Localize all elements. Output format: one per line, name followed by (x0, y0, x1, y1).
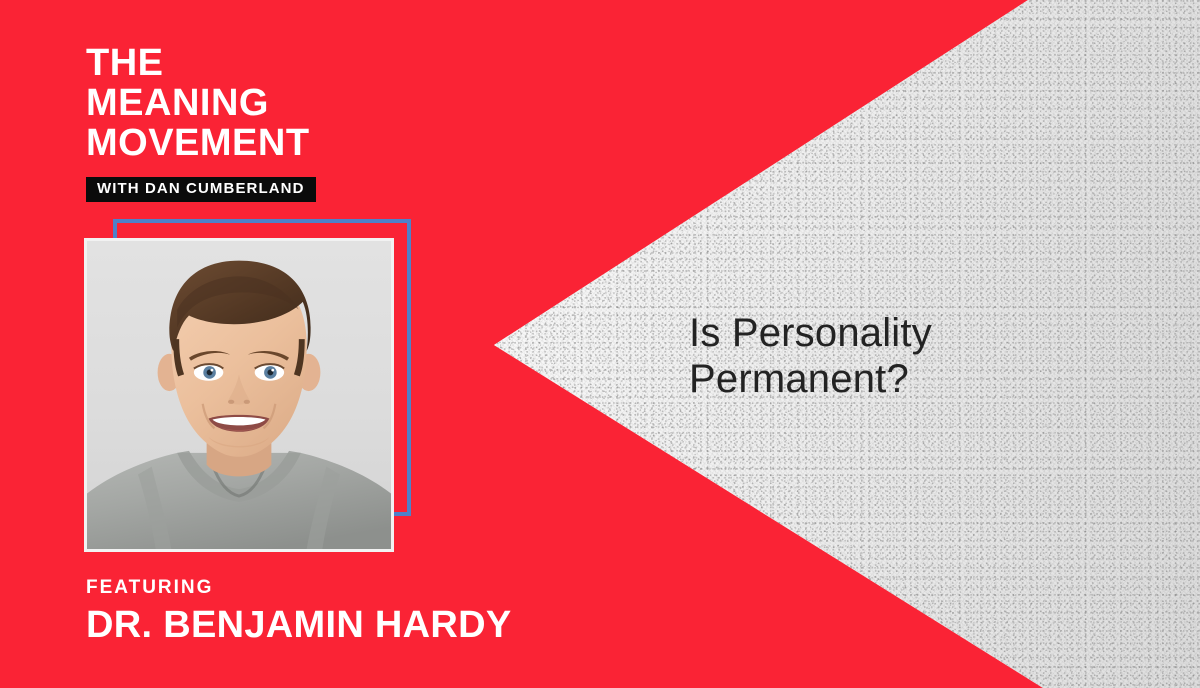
podcast-episode-cover: THE MEANING MOVEMENT WITH DAN CUMBERLAND (0, 0, 1200, 688)
brand-line-meaning: MEANING (86, 85, 506, 121)
episode-title: Is Personality Permanent? (689, 310, 1119, 402)
guest-headshot-illustration (87, 241, 391, 549)
brand-line-the: THE (86, 45, 506, 81)
brand-line-movement: MOVEMENT (86, 125, 506, 161)
featuring-label: FEATURING (86, 578, 512, 598)
featuring-block: FEATURING DR. BENJAMIN HARDY (86, 578, 512, 646)
guest-headshot (84, 238, 394, 552)
brand-lockup: THE MEANING MOVEMENT WITH DAN CUMBERLAND (86, 45, 506, 202)
host-badge: WITH DAN CUMBERLAND (86, 177, 316, 202)
guest-name: DR. BENJAMIN HARDY (86, 604, 512, 646)
